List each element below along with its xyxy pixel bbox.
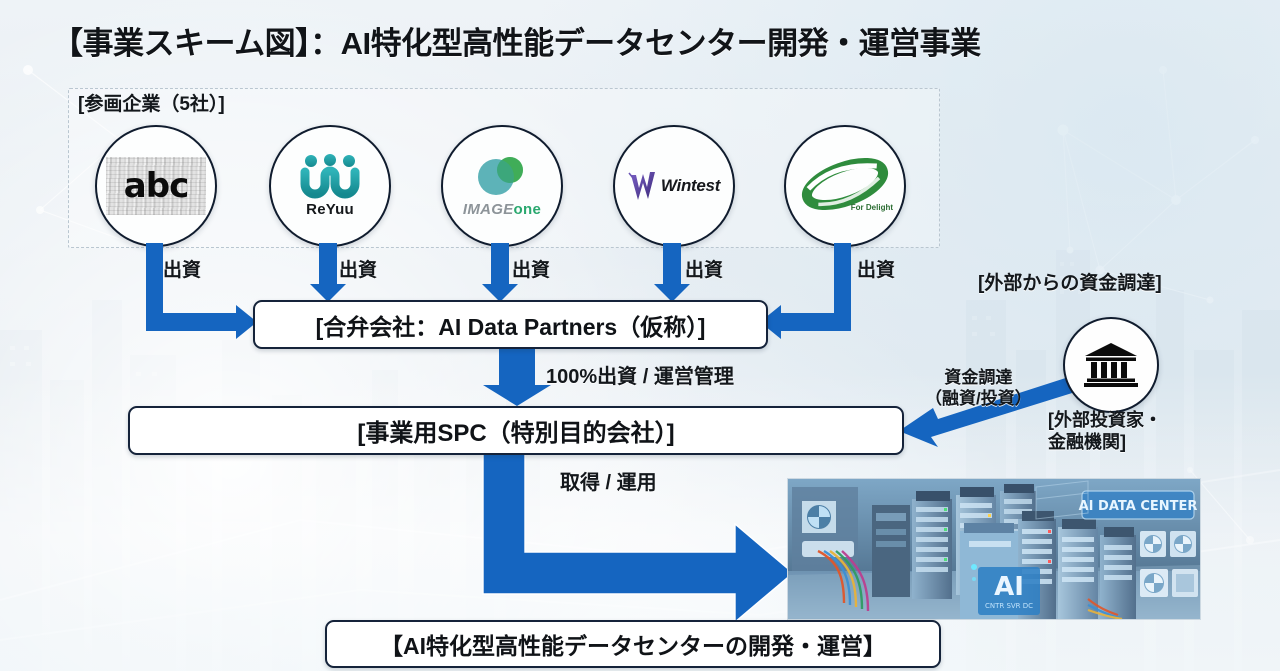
- label-investment-2: 出資: [339, 255, 377, 282]
- wintest-logo-text: Wintest: [661, 176, 720, 196]
- external-investor-label-line2: 金融機関]: [1048, 432, 1162, 454]
- imageone-logo-text-image: IMAGE: [463, 201, 514, 218]
- external-investor-label: [外部投資家・ 金融機関]: [1048, 410, 1162, 453]
- external-investor-icon-circle[interactable]: [1063, 317, 1159, 413]
- label-external-funding-line1: 資金調達: [925, 368, 1032, 389]
- bottom-caption-box[interactable]: 【AI特化型高性能データセンターの開発・運営】: [325, 620, 941, 668]
- joint-venture-box[interactable]: [合弁会社：AI Data Partners（仮称）]: [253, 300, 768, 349]
- company-logo-fordelight[interactable]: For Delight: [784, 125, 906, 247]
- company-logo-reyuu[interactable]: ReYuu: [269, 125, 391, 247]
- label-investment-5: 出資: [857, 255, 895, 282]
- datacenter-illustration: AI CNTR SVR DC AI DATA CENTER: [787, 478, 1201, 620]
- svg-text:AI: AI: [994, 572, 1024, 602]
- label-investment-3: 出資: [512, 255, 550, 282]
- label-external-funding-line2: （融資/投資）: [925, 389, 1032, 410]
- abc-logo-text: abc: [124, 166, 188, 206]
- reyuu-logo-text: ReYuu: [306, 201, 354, 218]
- company-logo-imageone[interactable]: IMAGEone: [441, 125, 563, 247]
- company-logo-abc[interactable]: abc: [95, 125, 217, 247]
- ai-panel: AI CNTR SVR DC: [978, 567, 1040, 615]
- fordelight-logo-text: For Delight: [851, 203, 893, 212]
- svg-text:CNTR SVR DC: CNTR SVR DC: [985, 602, 1033, 610]
- label-investment-4: 出資: [685, 255, 723, 282]
- external-funding-heading: [外部からの資金調達]: [978, 268, 1162, 295]
- label-jv-to-spc: 100%出資 / 運営管理: [546, 360, 734, 389]
- bottom-caption-label: 【AI特化型高性能データセンターの開発・運営】: [380, 627, 886, 661]
- joint-venture-box-label: [合弁会社：AI Data Partners（仮称）]: [316, 308, 706, 342]
- company-logo-wintest[interactable]: Wintest: [613, 125, 735, 247]
- external-investor-label-line1: [外部投資家・: [1048, 410, 1162, 432]
- imageone-circles-icon: [466, 155, 538, 201]
- spc-box[interactable]: [事業用SPC（特別目的会社）]: [128, 406, 904, 455]
- label-investment-1: 出資: [163, 255, 201, 282]
- imageone-logo-text-one: one: [514, 201, 542, 218]
- abc-wordmark-icon: abc: [106, 157, 206, 215]
- wintest-w-mark-icon: [628, 167, 658, 205]
- svg-text:AI DATA CENTER: AI DATA CENTER: [1079, 499, 1198, 514]
- reyuu-smiley-w-icon: [299, 154, 361, 200]
- spc-box-label: [事業用SPC（特別目的会社）]: [357, 413, 674, 448]
- scheme-diagram-canvas: 【事業スキーム図】：AI特化型高性能データセンター開発・運営事業 [参画企業（5…: [0, 0, 1280, 671]
- participants-panel-label: [参画企業（5社）]: [78, 89, 225, 116]
- label-external-funding: 資金調達 （融資/投資）: [925, 368, 1032, 409]
- page-title: 【事業スキーム図】：AI特化型高性能データセンター開発・運営事業: [52, 18, 981, 63]
- datacenter-scene-icon: AI CNTR SVR DC AI DATA CENTER: [788, 479, 1200, 619]
- ai-data-center-sign: AI DATA CENTER: [1079, 491, 1198, 519]
- bank-building-icon: [1083, 340, 1139, 390]
- label-spc-to-datacenter: 取得 / 運用: [560, 466, 657, 495]
